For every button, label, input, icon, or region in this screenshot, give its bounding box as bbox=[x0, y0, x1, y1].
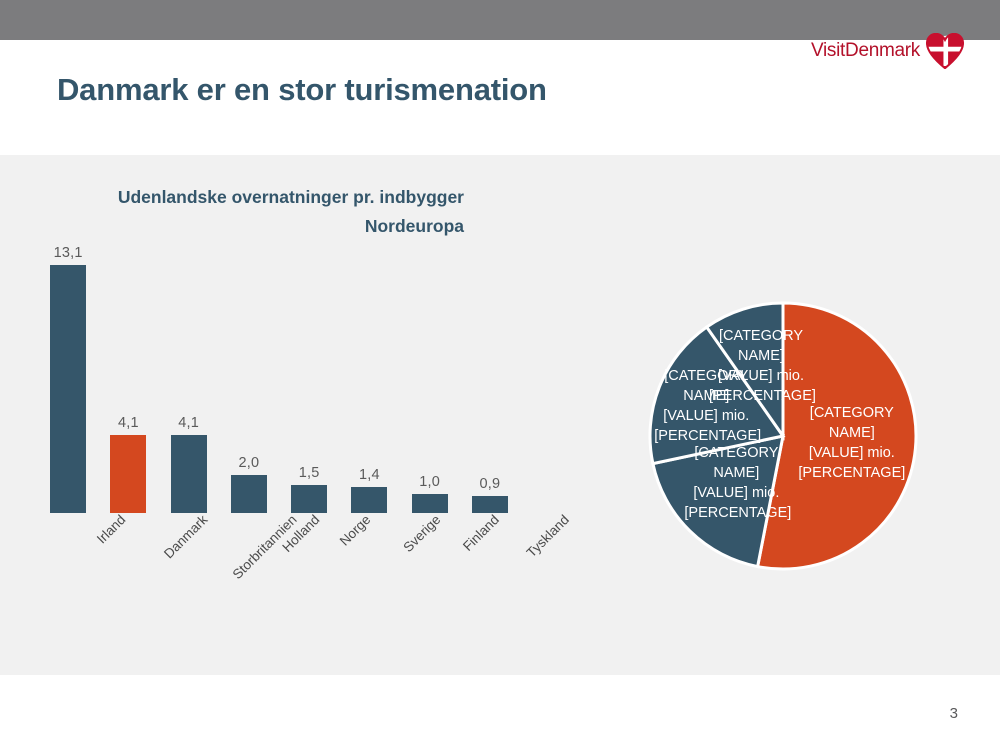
bar-chart-title: Udenlandske overnatninger pr. indbygger … bbox=[44, 183, 464, 241]
pie-chart: Udenlandske overnatninger Norden [CATEGO… bbox=[520, 155, 1000, 675]
bar-series: 13,14,14,12,01,51,41,00,9 bbox=[38, 243, 520, 513]
bar-chart: Udenlandske overnatninger pr. indbygger … bbox=[0, 155, 520, 675]
bar-item: 13,1 bbox=[38, 243, 98, 513]
page-number: 3 bbox=[950, 705, 958, 722]
bar-value-label: 1,5 bbox=[299, 465, 320, 481]
heart-icon bbox=[926, 33, 964, 69]
bar-category-label: Finland bbox=[460, 512, 502, 554]
logo-wordmark: VisitDenmark bbox=[811, 40, 920, 62]
bar-item: 1,5 bbox=[279, 243, 339, 513]
bar-category-label: Irland bbox=[94, 512, 128, 546]
bar-chart-title-line2: Nordeuropa bbox=[365, 216, 464, 236]
bar-value-label: 4,1 bbox=[118, 415, 139, 431]
bar-item: 1,4 bbox=[339, 243, 399, 513]
bar-value-label: 0,9 bbox=[479, 476, 500, 492]
pie-chart-plot-area: [CATEGORY NAME] [VALUE] mio. [PERCENTAGE… bbox=[648, 301, 918, 571]
bar-item: 4,1 bbox=[98, 243, 158, 513]
bar-item: 2,0 bbox=[219, 243, 279, 513]
bar-value-label: 4,1 bbox=[178, 415, 199, 431]
page-title: Danmark er en stor turismenation bbox=[57, 72, 547, 108]
bar-chart-plot-area: 13,14,14,12,01,51,41,00,9 IrlandDanmarkS… bbox=[20, 245, 520, 625]
content-band: Udenlandske overnatninger pr. indbygger … bbox=[0, 155, 1000, 675]
bar-chart-category-axis: IrlandDanmarkStorbritannienHollandNorgeS… bbox=[38, 508, 520, 613]
bar-value-label: 2,0 bbox=[238, 455, 259, 471]
pie-svg bbox=[648, 301, 918, 571]
bar-rect bbox=[171, 435, 207, 513]
bar-value-label: 1,0 bbox=[419, 474, 440, 490]
bar-rect bbox=[50, 265, 86, 513]
bar-category-label: Sverige bbox=[400, 512, 443, 555]
bar-rect bbox=[110, 435, 146, 513]
bar-chart-title-line1: Udenlandske overnatninger pr. indbygger bbox=[118, 187, 464, 207]
bar-value-label: 13,1 bbox=[54, 245, 83, 261]
bar-item: 4,1 bbox=[159, 243, 219, 513]
bar-item: 0,9 bbox=[460, 243, 520, 513]
bar-category-label: Danmark bbox=[161, 512, 210, 561]
bar-item: 1,0 bbox=[400, 243, 460, 513]
bar-value-label: 1,4 bbox=[359, 467, 380, 483]
bar-category-label: Norge bbox=[337, 512, 374, 549]
visitdenmark-logo: VisitDenmark bbox=[811, 32, 964, 70]
